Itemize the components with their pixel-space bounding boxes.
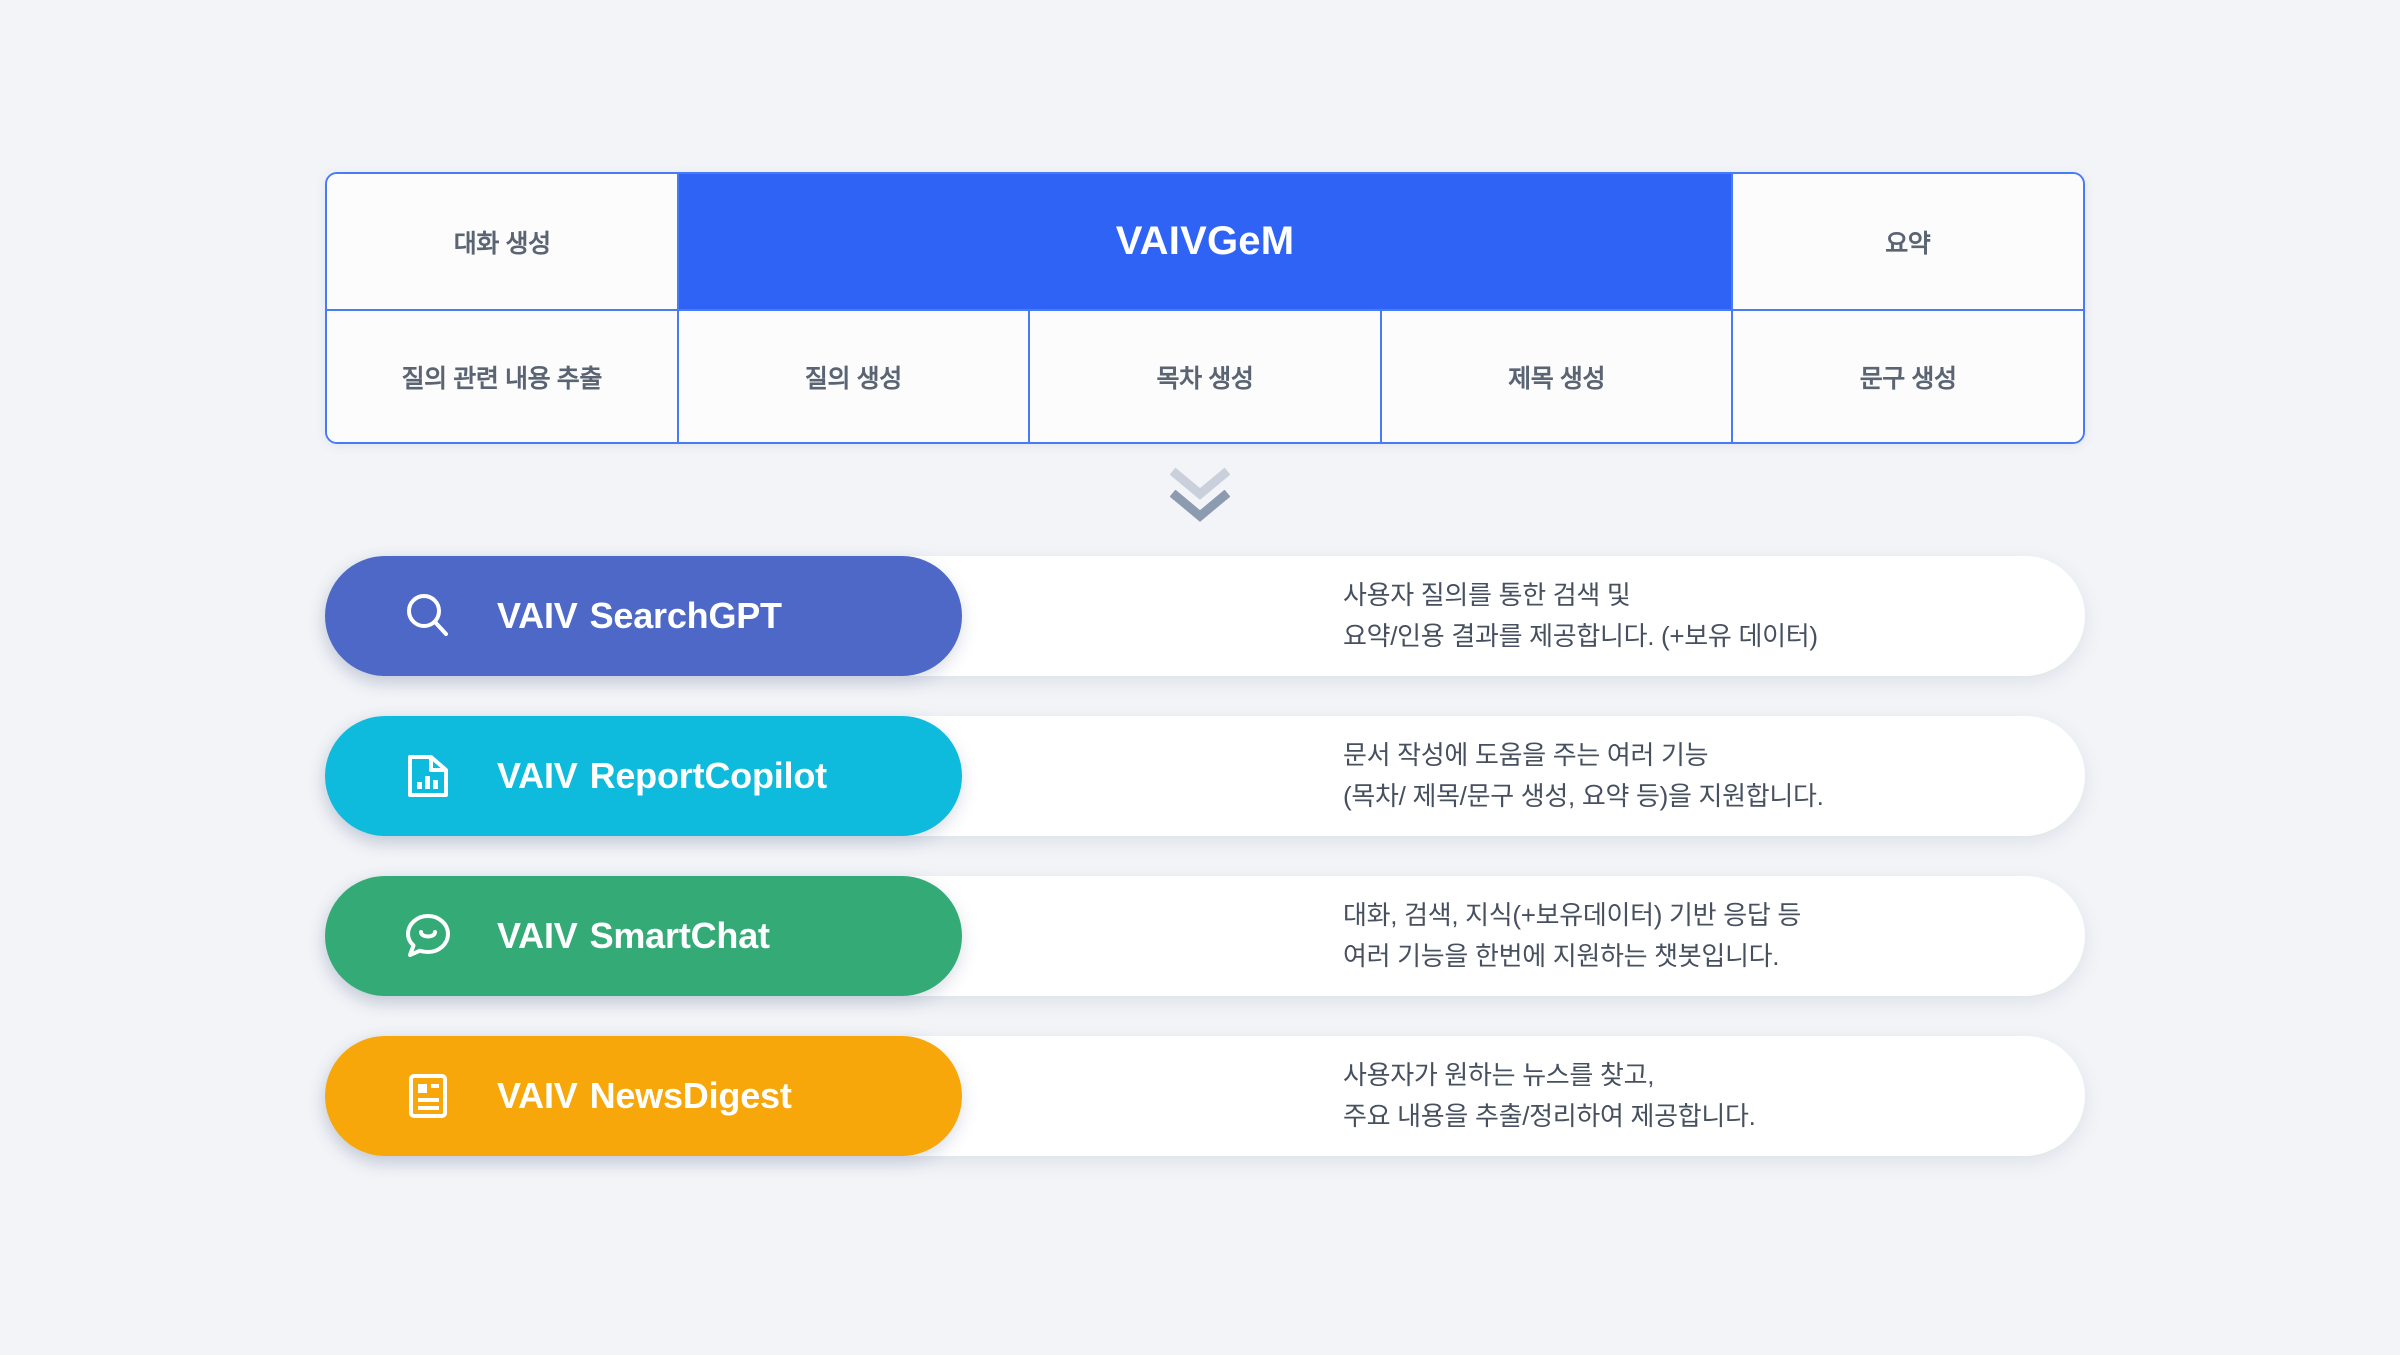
description-line: 여러 기능을 한번에 지원하는 챗봇입니다. (1343, 942, 1801, 971)
brand-prefix: VAIV (497, 1075, 578, 1116)
document-chart-icon (401, 749, 455, 803)
capability-matrix: 대화 생성 VAIVGeM 요약 질의 관련 내용 추출 질의 생성 목차 생성… (325, 172, 2085, 444)
matrix-cell-label: 목차 생성 (1157, 359, 1254, 395)
description-line: 사용자 질의를 통한 검색 및 (1343, 581, 1818, 610)
page-root: 대화 생성 VAIVGeM 요약 질의 관련 내용 추출 질의 생성 목차 생성… (0, 0, 2400, 1355)
product-pill-reportcopilot[interactable]: VAIVReportCopilot (325, 716, 962, 836)
brand-title: VAIVGeM (1116, 219, 1294, 264)
product-pill-label: VAIVSmartChat (497, 915, 770, 957)
product-name: NewsDigest (590, 1075, 792, 1116)
description-line: 문서 작성에 도움을 주는 여러 기능 (1343, 741, 1824, 770)
product-card-reportcopilot: VAIVReportCopilot 문서 작성에 도움을 주는 여러 기능 (목… (325, 716, 2085, 836)
matrix-cell-toc-generation: 목차 생성 (1030, 311, 1382, 442)
matrix-cell-query-generation: 질의 생성 (679, 311, 1031, 442)
search-icon (401, 589, 455, 643)
product-card-searchgpt: VAIVSearchGPT 사용자 질의를 통한 검색 및 요약/인용 결과를 … (325, 556, 2085, 676)
product-pill-label: VAIVNewsDigest (497, 1075, 792, 1117)
description-line: 사용자가 원하는 뉴스를 찾고, (1343, 1061, 1756, 1090)
product-card-list: VAIVSearchGPT 사용자 질의를 통한 검색 및 요약/인용 결과를 … (325, 556, 2085, 1196)
product-pill-label: VAIVSearchGPT (497, 595, 782, 637)
matrix-cell-query-content-extraction: 질의 관련 내용 추출 (327, 311, 679, 442)
description-line: (목차/ 제목/문구 생성, 요약 등)을 지원합니다. (1343, 782, 1824, 811)
product-description-reportcopilot: 문서 작성에 도움을 주는 여러 기능 (목차/ 제목/문구 생성, 요약 등)… (1343, 716, 1824, 836)
brand-prefix: VAIV (497, 755, 578, 796)
product-pill-newsdigest[interactable]: VAIVNewsDigest (325, 1036, 962, 1156)
matrix-cell-phrase-generation: 문구 생성 (1733, 311, 2083, 442)
description-line: 대화, 검색, 지식(+보유데이터) 기반 응답 등 (1343, 901, 1801, 930)
product-description-newsdigest: 사용자가 원하는 뉴스를 찾고, 주요 내용을 추출/정리하여 제공합니다. (1343, 1036, 1756, 1156)
product-card-smartchat: VAIVSmartChat 대화, 검색, 지식(+보유데이터) 기반 응답 등… (325, 876, 2085, 996)
product-name: SearchGPT (590, 595, 782, 636)
matrix-cell-brand-vaivgem: VAIVGeM (679, 174, 1732, 309)
matrix-cell-label: 제목 생성 (1508, 359, 1605, 395)
brand-prefix: VAIV (497, 595, 578, 636)
chat-smile-icon (401, 909, 455, 963)
product-card-newsdigest: VAIVNewsDigest 사용자가 원하는 뉴스를 찾고, 주요 내용을 추… (325, 1036, 2085, 1156)
product-pill-smartchat[interactable]: VAIVSmartChat (325, 876, 962, 996)
matrix-cell-title-generation: 제목 생성 (1382, 311, 1734, 442)
matrix-cell-label: 질의 관련 내용 추출 (402, 359, 602, 395)
matrix-top-row: 대화 생성 VAIVGeM 요약 (327, 174, 2083, 309)
double-chevron-down-icon (1168, 468, 1232, 530)
description-line: 주요 내용을 추출/정리하여 제공합니다. (1343, 1102, 1756, 1131)
matrix-bottom-row: 질의 관련 내용 추출 질의 생성 목차 생성 제목 생성 문구 생성 (327, 309, 2083, 442)
matrix-cell-label: 질의 생성 (805, 359, 902, 395)
product-description-smartchat: 대화, 검색, 지식(+보유데이터) 기반 응답 등 여러 기능을 한번에 지원… (1343, 876, 1801, 996)
brand-prefix: VAIV (497, 915, 578, 956)
matrix-cell-label: 문구 생성 (1860, 359, 1957, 395)
product-pill-label: VAIVReportCopilot (497, 755, 827, 797)
news-article-icon (401, 1069, 455, 1123)
matrix-cell-dialog-generation: 대화 생성 (327, 174, 679, 309)
product-description-searchgpt: 사용자 질의를 통한 검색 및 요약/인용 결과를 제공합니다. (+보유 데이… (1343, 556, 1818, 676)
product-pill-searchgpt[interactable]: VAIVSearchGPT (325, 556, 962, 676)
matrix-cell-summary: 요약 (1733, 174, 2083, 309)
matrix-cell-label: 요약 (1885, 224, 1930, 260)
matrix-cell-label: 대화 생성 (454, 224, 551, 260)
product-name: SmartChat (590, 915, 770, 956)
description-line: 요약/인용 결과를 제공합니다. (+보유 데이터) (1343, 622, 1818, 651)
product-name: ReportCopilot (590, 755, 827, 796)
